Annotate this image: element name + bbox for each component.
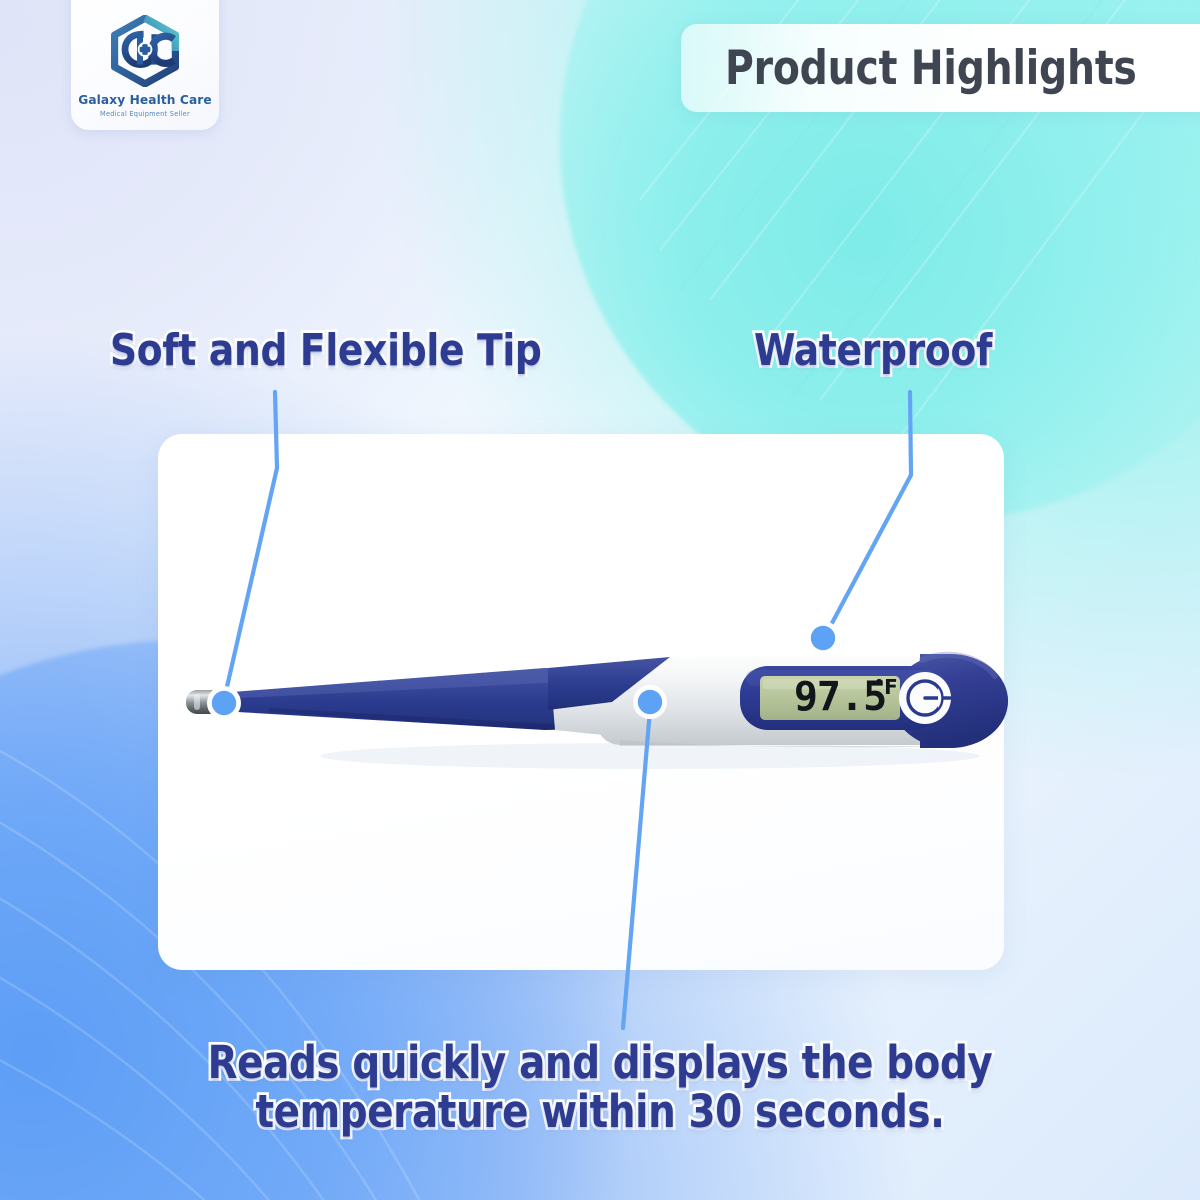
dot-soft-tip[interactable]	[212, 691, 236, 715]
connector-dots	[207, 621, 840, 720]
callout-label-reads-fast: Reads quickly and displays the body temp…	[0, 1038, 1200, 1136]
dot-waterproof[interactable]	[811, 626, 835, 650]
connector-line-reads-fast	[623, 710, 650, 1028]
callout-label-waterproof: Waterproof	[754, 325, 992, 376]
poster-canvas: Galaxy Health Care Medical Equipment Sel…	[0, 0, 1200, 1200]
callout-reads-line1: Reads quickly and displays the body	[24, 1038, 1176, 1087]
callout-connectors	[0, 0, 1200, 1200]
connector-line-soft-tip	[224, 392, 277, 700]
dot-reads-fast[interactable]	[638, 690, 662, 714]
callout-label-soft-tip: Soft and Flexible Tip	[110, 325, 542, 376]
connector-line-waterproof	[823, 392, 911, 640]
callout-reads-line2: temperature within 30 seconds.	[24, 1087, 1176, 1136]
